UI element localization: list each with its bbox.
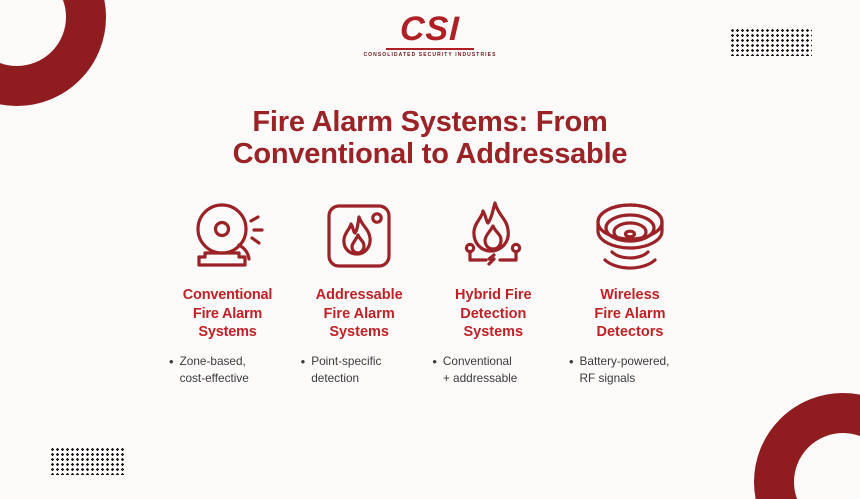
feature-column-conventional: Conventional Fire Alarm Systems • Zone-b… <box>165 200 290 387</box>
feature-bullet: • Point-specific detection <box>297 353 422 387</box>
bullet-text-line-2: RF signals <box>580 371 636 385</box>
feature-heading: Hybrid Fire Detection Systems <box>455 286 532 342</box>
feature-heading-line-2: Detection <box>460 306 526 322</box>
feature-heading-line-3: Detectors <box>597 324 664 340</box>
feature-heading-line-2: Fire Alarm <box>193 306 262 322</box>
feature-column-hybrid: Hybrid Fire Detection Systems • Conventi… <box>428 200 558 387</box>
feature-column-wireless: Wireless Fire Alarm Detectors • Battery-… <box>565 200 695 387</box>
bullet-text-line-2: + addressable <box>443 371 517 385</box>
decorative-dot-grid-bottom-left <box>50 447 126 475</box>
bullet-marker: • <box>169 353 174 372</box>
feature-heading: Addressable Fire Alarm Systems <box>316 286 403 342</box>
feature-heading: Wireless Fire Alarm Detectors <box>594 286 665 342</box>
feature-column-addressable: Addressable Fire Alarm Systems • Point-s… <box>297 200 422 387</box>
logo-divider <box>386 48 474 50</box>
infographic-canvas: CSI CONSOLIDATED SECURITY INDUSTRIES Fir… <box>0 0 860 499</box>
bullet-text-line-1: Conventional <box>443 354 512 368</box>
flame-circuit-icon <box>457 200 529 272</box>
brand-logo: CSI CONSOLIDATED SECURITY INDUSTRIES <box>0 12 860 58</box>
bullet-text-line-2: detection <box>311 371 359 385</box>
flame-panel-icon <box>324 200 394 272</box>
bullet-text-line-2: cost-effective <box>180 371 249 385</box>
bullet-marker: • <box>301 353 306 372</box>
bullet-marker: • <box>432 353 437 372</box>
bullet-text-line-1: Battery-powered, <box>580 354 670 368</box>
feature-heading-line-1: Conventional <box>183 287 272 303</box>
alarm-bell-icon <box>189 200 267 272</box>
bullet-text-line-1: Zone-based, <box>180 354 246 368</box>
logo-wordmark: CSI <box>400 12 461 46</box>
feature-bullet: • Conventional + addressable <box>428 353 558 387</box>
feature-heading-line-1: Hybrid Fire <box>455 287 532 303</box>
page-title: Fire Alarm Systems: From Conventional to… <box>0 106 860 171</box>
wireless-smoke-detector-icon <box>592 200 668 272</box>
feature-heading-line-2: Fire Alarm <box>594 306 665 322</box>
bullet-text-line-1: Point-specific <box>311 354 381 368</box>
feature-heading-line-3: Systems <box>329 324 389 340</box>
page-title-line-1: Fire Alarm Systems: From <box>0 106 860 138</box>
feature-heading-line-1: Addressable <box>316 287 403 303</box>
bullet-text: Battery-powered, RF signals <box>580 353 670 387</box>
decorative-arc-bottom-right <box>754 393 860 499</box>
feature-heading-line-2: Fire Alarm <box>324 306 395 322</box>
feature-heading-line-1: Wireless <box>600 287 660 303</box>
feature-heading-line-3: Systems <box>463 324 523 340</box>
page-title-line-2: Conventional to Addressable <box>0 138 860 170</box>
bullet-text: Conventional + addressable <box>443 353 517 387</box>
bullet-text: Zone-based, cost-effective <box>180 353 249 387</box>
logo-tagline: CONSOLIDATED SECURITY INDUSTRIES <box>363 52 496 58</box>
feature-bullet: • Zone-based, cost-effective <box>165 353 290 387</box>
bullet-text: Point-specific detection <box>311 353 381 387</box>
feature-heading: Conventional Fire Alarm Systems <box>183 286 272 342</box>
feature-columns: Conventional Fire Alarm Systems • Zone-b… <box>165 200 695 387</box>
bullet-marker: • <box>569 353 574 372</box>
feature-bullet: • Battery-powered, RF signals <box>565 353 695 387</box>
feature-heading-line-3: Systems <box>198 324 256 340</box>
